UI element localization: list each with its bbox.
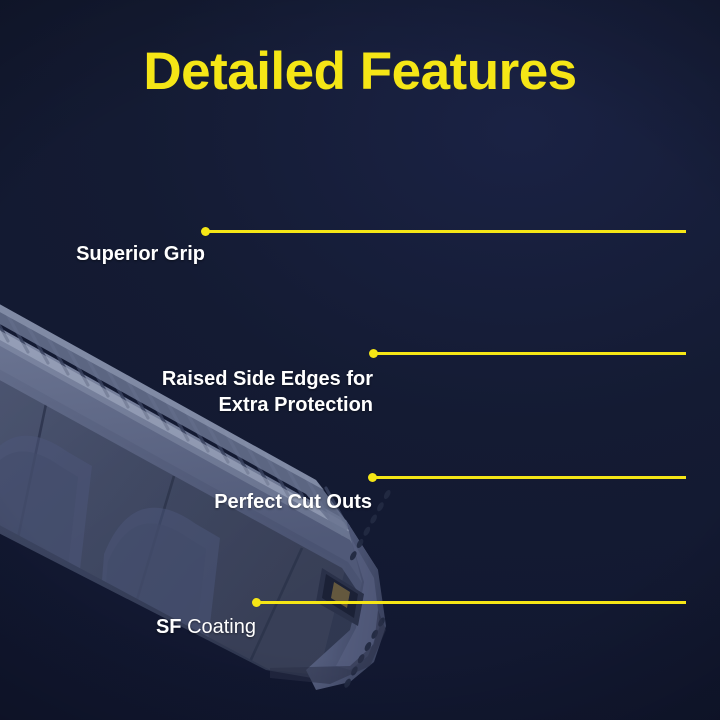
callout-label: Superior Grip [0,241,205,267]
callout-label-regular-text: Coating [187,616,256,638]
callout-anchor-dot [201,227,210,236]
callout-anchor-dot [369,349,378,358]
callout-anchor-dot [252,598,261,607]
callout-label-bold: SF [156,616,182,638]
callout-label-line-2: Extra Protection [219,394,373,416]
infographic-canvas: Detailed Features Superior Grip Raised S… [0,0,720,720]
page-title: Detailed Features [0,44,720,100]
callout-label: SF Coating [0,614,256,640]
callout-leader-line [205,230,686,233]
callout-label-line-1: Raised Side Edges for [162,368,373,390]
callout-anchor-dot [368,473,377,482]
callout-label: Perfect Cut Outs [58,489,372,515]
callout-leader-line [256,601,686,604]
callout-label: Raised Side Edges for Extra Protection [60,366,373,419]
callout-leader-line [372,476,686,479]
callout-leader-line [373,352,686,355]
